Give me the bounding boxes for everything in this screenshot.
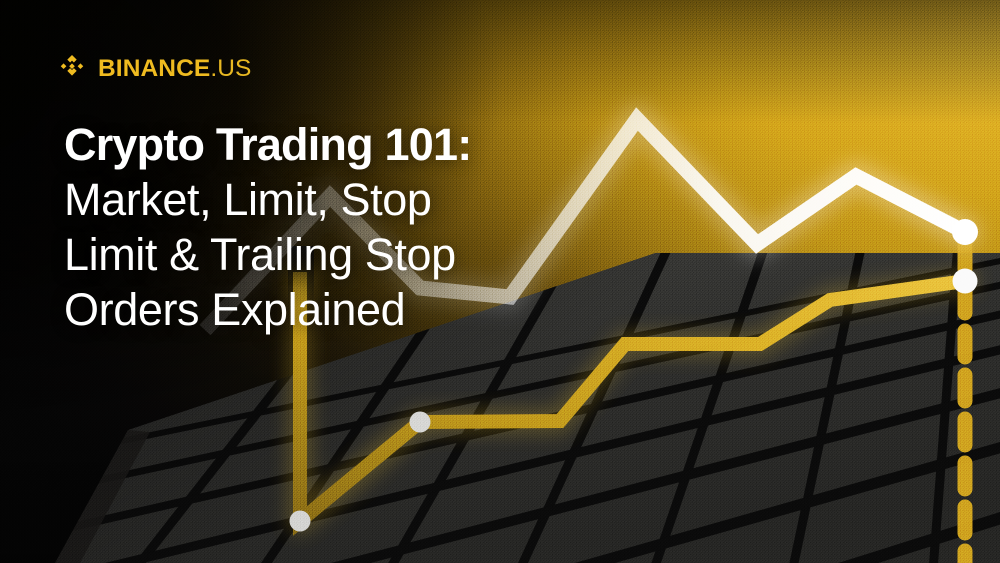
headline-line-1: Crypto Trading 101: — [64, 117, 624, 172]
hero-banner: BINANCE.US Crypto Trading 101: Market, L… — [0, 0, 1000, 563]
headline-line-2: Market, Limit, Stop — [64, 172, 624, 227]
binance-us-logo[interactable]: BINANCE.US — [57, 54, 251, 84]
page-title: Crypto Trading 101: Market, Limit, Stop … — [64, 117, 624, 337]
binance-diamond-logo-icon — [57, 54, 87, 84]
binance-us-wordmark: BINANCE.US — [98, 57, 251, 82]
logo-name-bold: BINANCE — [98, 55, 210, 82]
logo-name-light: .US — [210, 55, 251, 82]
headline-line-3: Limit & Trailing Stop — [64, 227, 624, 282]
headline-line-4: Orders Explained — [64, 282, 624, 337]
